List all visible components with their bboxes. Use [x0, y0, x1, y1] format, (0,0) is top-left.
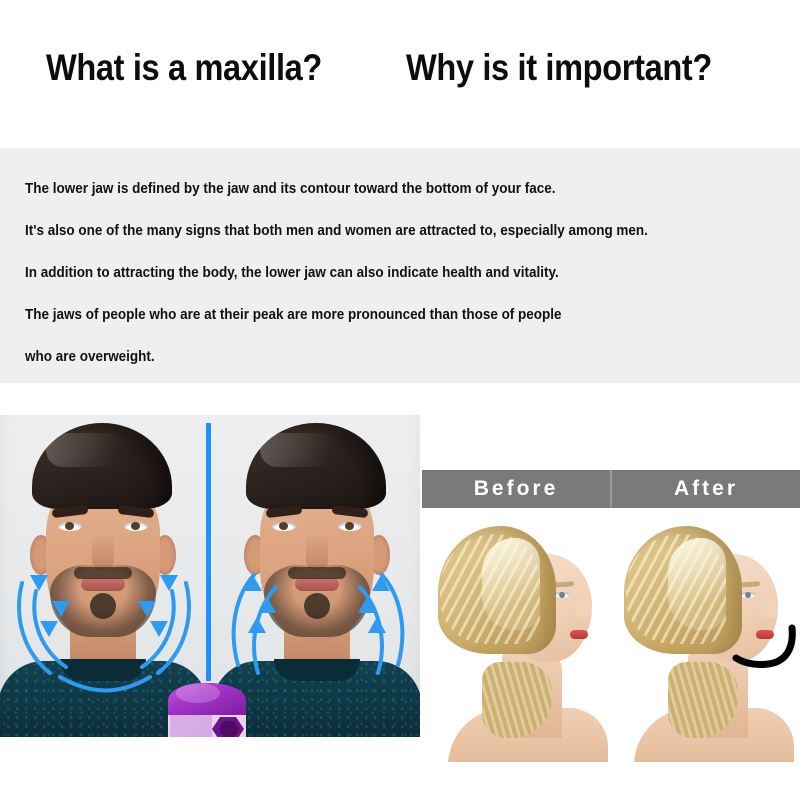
before-header-label: Before	[422, 470, 610, 508]
description-line: The jaws of people who are at their peak…	[25, 308, 732, 323]
description-block: The lower jaw is defined by the jaw and …	[0, 148, 800, 383]
photo-divider	[206, 423, 211, 681]
hair	[246, 423, 386, 509]
men-before-after-panel: BEFORE AFTER	[0, 415, 420, 737]
lips	[295, 577, 339, 591]
description-line: It's also one of the many signs that bot…	[25, 224, 732, 239]
women-photo-row	[420, 512, 800, 762]
hair	[32, 423, 172, 509]
heading-row: What is a maxilla? Why is it important?	[0, 46, 800, 90]
after-header-label: After	[612, 470, 800, 508]
lips	[81, 577, 125, 591]
eye-right	[338, 521, 362, 531]
woman-photo-after	[610, 512, 800, 762]
eye	[740, 592, 756, 598]
hair-highlights	[626, 534, 726, 644]
comparison-media-area: BEFORE AFTER Before After	[0, 415, 800, 800]
jawline-contour-mark	[728, 624, 800, 684]
goatee	[90, 593, 116, 619]
jaw-exerciser-device	[154, 667, 260, 737]
description-line: The lower jaw is defined by the jaw and …	[25, 182, 732, 197]
eye-left	[58, 521, 82, 531]
description-lines: The lower jaw is defined by the jaw and …	[25, 182, 785, 392]
mustache	[288, 567, 346, 579]
collar	[60, 659, 146, 681]
description-line: In addition to attracting the body, the …	[25, 266, 732, 281]
woman-photo-before	[424, 512, 614, 762]
women-before-after-panel: Before After	[420, 415, 800, 800]
heading-band: What is a maxilla? Why is it important?	[0, 0, 800, 148]
mustache	[74, 567, 132, 579]
product-infographic: What is a maxilla? Why is it important? …	[0, 0, 800, 800]
description-line: who are overweight.	[25, 350, 732, 365]
page-title-right: Why is it important?	[406, 46, 712, 90]
eye-right	[124, 521, 148, 531]
before-after-header-bar: Before After	[422, 470, 800, 508]
hair-highlights	[440, 534, 540, 644]
eye-left	[272, 521, 296, 531]
page-title-left: What is a maxilla?	[46, 46, 322, 90]
collar	[274, 659, 360, 681]
eye	[554, 592, 570, 598]
lips	[570, 630, 588, 639]
section-gap	[0, 383, 800, 415]
goatee	[304, 593, 330, 619]
